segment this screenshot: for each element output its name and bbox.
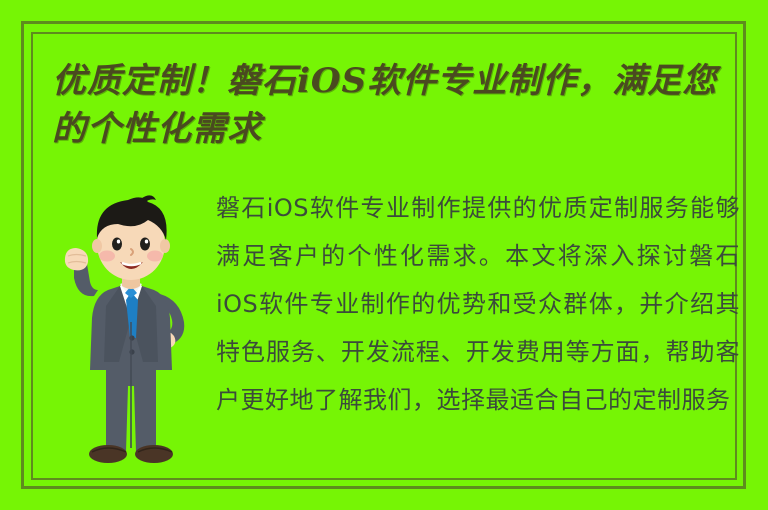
poster-body-text: 磐石iOS软件专业制作提供的优质定制服务能够满足客户的个性化需求。本文将深入探讨… — [216, 184, 740, 424]
poster-title: 优质定制！磐石iOS软件专业制作，满足您的个性化需求 — [52, 57, 742, 154]
body-text-region: 磐石iOS软件专业制作提供的优质定制服务能够满足客户的个性化需求。本文将深入探讨… — [216, 184, 740, 474]
illustration-businessman — [56, 186, 206, 476]
poster-canvas: 优质定制！磐石iOS软件专业制作，满足您的个性化需求 — [0, 0, 768, 510]
